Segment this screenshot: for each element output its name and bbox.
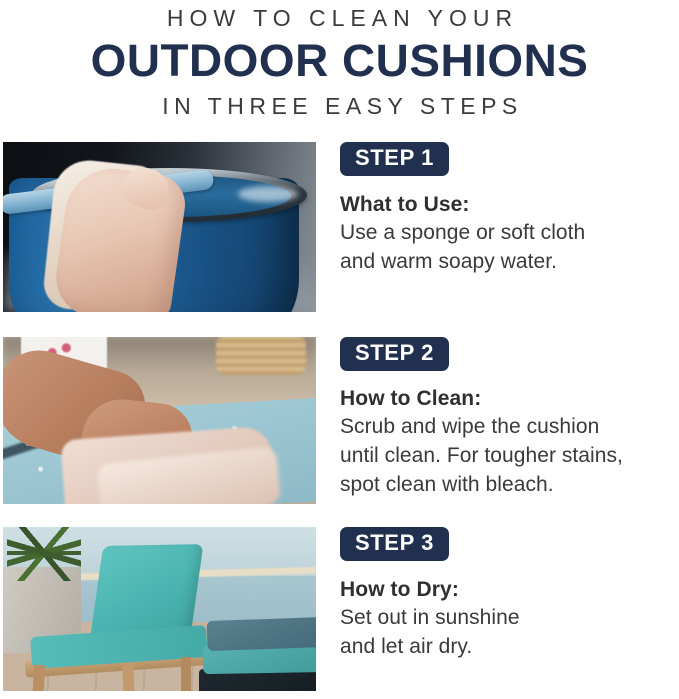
header-kicker: HOW TO CLEAN YOUR <box>0 4 679 32</box>
chaise-lounge-drying-photo <box>3 527 316 691</box>
step-row-2: STEP 2 How to Clean: Scrub and wipe the … <box>0 337 679 504</box>
step-2-body-line-2: until clean. For tougher stains, <box>340 442 679 470</box>
header: HOW TO CLEAN YOUR OUTDOOR CUSHIONS IN TH… <box>0 0 679 120</box>
step-row-3: STEP 3 How to Dry: Set out in sunshine a… <box>0 527 679 691</box>
chaise-leg <box>122 663 134 691</box>
page-title: OUTDOOR CUSHIONS <box>0 34 679 88</box>
step-3-text: STEP 3 How to Dry: Set out in sunshine a… <box>340 527 679 691</box>
step-2-body-line-1: Scrub and wipe the cushion <box>340 413 679 441</box>
step-2-text: STEP 2 How to Clean: Scrub and wipe the … <box>340 337 679 504</box>
header-subkicker: IN THREE EASY STEPS <box>0 92 679 120</box>
step-3-photo <box>3 527 316 691</box>
hand-wiping-cushion-photo <box>3 337 316 504</box>
step-2-badge: STEP 2 <box>340 337 449 371</box>
rim-highlight <box>238 186 298 202</box>
step-1-lead: What to Use: <box>340 192 679 218</box>
step-3-badge: STEP 3 <box>340 527 449 561</box>
step-1-body-line-1: Use a sponge or soft cloth <box>340 219 679 247</box>
chaise-leg <box>181 657 191 691</box>
step-1-text: STEP 1 What to Use: Use a sponge or soft… <box>340 142 679 312</box>
step-1-photo <box>3 142 316 312</box>
step-1-badge: STEP 1 <box>340 142 449 176</box>
woven-basket <box>216 337 306 375</box>
step-3-lead: How to Dry: <box>340 577 679 603</box>
step-3-body-line-2: and let air dry. <box>340 633 679 661</box>
step-row-1: STEP 1 What to Use: Use a sponge or soft… <box>0 142 679 312</box>
step-2-body-line-3: spot clean with bleach. <box>340 471 679 499</box>
step-2-photo <box>3 337 316 504</box>
infographic-page: HOW TO CLEAN YOUR OUTDOOR CUSHIONS IN TH… <box>0 0 679 699</box>
step-1-body-line-2: and warm soapy water. <box>340 248 679 276</box>
step-2-lead: How to Clean: <box>340 386 679 412</box>
blue-bucket-with-cloth-photo <box>3 142 316 312</box>
stacked-cushion-top <box>207 617 316 651</box>
step-3-body-line-1: Set out in sunshine <box>340 604 679 632</box>
plant <box>7 527 81 581</box>
chaise-leg <box>32 665 45 691</box>
